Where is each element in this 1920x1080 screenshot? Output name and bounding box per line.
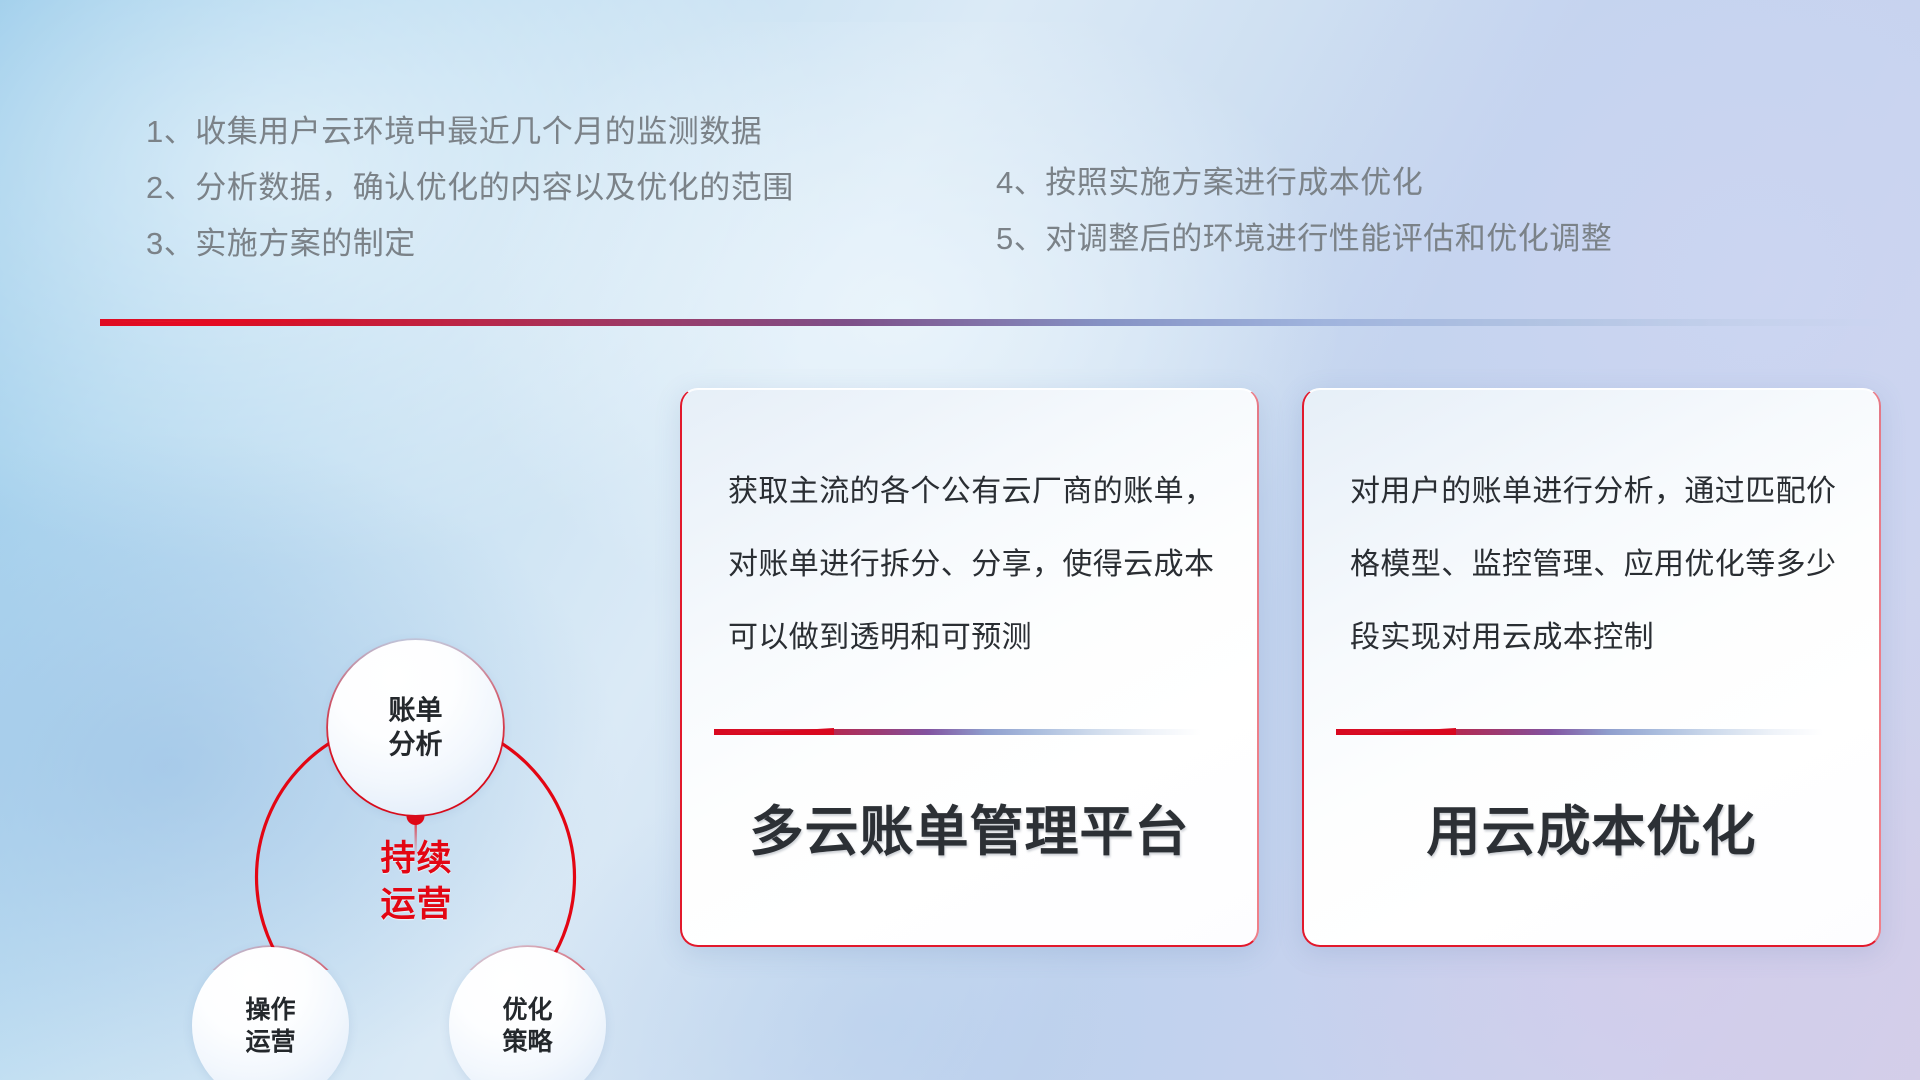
bubble-label-line1: 优化	[502, 996, 552, 1024]
cycle-center-line1: 持续	[380, 839, 452, 878]
bubble-label-line2: 运营	[245, 1028, 295, 1056]
card-divider	[1336, 727, 1822, 736]
card-title: 用云成本优化	[1304, 787, 1879, 866]
top-divider-bar	[100, 319, 1890, 326]
card-divider	[714, 727, 1200, 736]
bubble-label-line1: 账单	[389, 695, 443, 725]
bubble-label: 优化 策略	[449, 994, 606, 1058]
bubble-label: 操作 运营	[192, 994, 349, 1058]
steps-right-column: 4、按照实施方案进行成本优化 5、对调整后的环境进行性能评估和优化调整	[996, 155, 1612, 267]
bubble-label-line1: 操作	[245, 996, 295, 1024]
step-item-1: 1、收集用户云环境中最近几个月的监测数据	[146, 104, 794, 160]
cycle-center-line2: 运营	[380, 885, 452, 924]
step-item-4: 4、按照实施方案进行成本优化	[996, 155, 1612, 211]
bubble-billing-analysis[interactable]: 账单 分析	[328, 640, 503, 815]
card-title: 多云账单管理平台	[682, 787, 1257, 866]
cycle-diagram: 账单 分析 操作 运营 优化 策略 持续 运营	[100, 350, 660, 970]
step-item-3: 3、实施方案的制定	[146, 216, 794, 272]
card-multicloud-billing[interactable]: 获取主流的各个公有云厂商的账单，对账单进行拆分、分享，使得云成本可以做到透明和可…	[680, 388, 1259, 947]
step-item-2: 2、分析数据，确认优化的内容以及优化的范围	[146, 160, 794, 216]
bubble-label-line2: 分析	[389, 730, 443, 760]
card-cloud-cost-optimization[interactable]: 对用户的账单进行分析，通过匹配价格模型、监控管理、应用优化等多少段实现对用云成本…	[1302, 388, 1881, 947]
top-divider	[100, 316, 1890, 330]
card-body-text: 对用户的账单进行分析，通过匹配价格模型、监控管理、应用优化等多少段实现对用云成本…	[1350, 455, 1843, 674]
step-item-5: 5、对调整后的环境进行性能评估和优化调整	[996, 211, 1612, 267]
cycle-center-label: 持续 运营	[329, 836, 504, 927]
bubble-label: 账单 分析	[328, 693, 503, 762]
steps-left-column: 1、收集用户云环境中最近几个月的监测数据 2、分析数据，确认优化的内容以及优化的…	[146, 104, 794, 272]
bubble-label-line2: 策略	[502, 1028, 552, 1056]
card-body-text: 获取主流的各个公有云厂商的账单，对账单进行拆分、分享，使得云成本可以做到透明和可…	[728, 455, 1221, 674]
slide-canvas: 1、收集用户云环境中最近几个月的监测数据 2、分析数据，确认优化的内容以及优化的…	[0, 0, 1920, 1080]
